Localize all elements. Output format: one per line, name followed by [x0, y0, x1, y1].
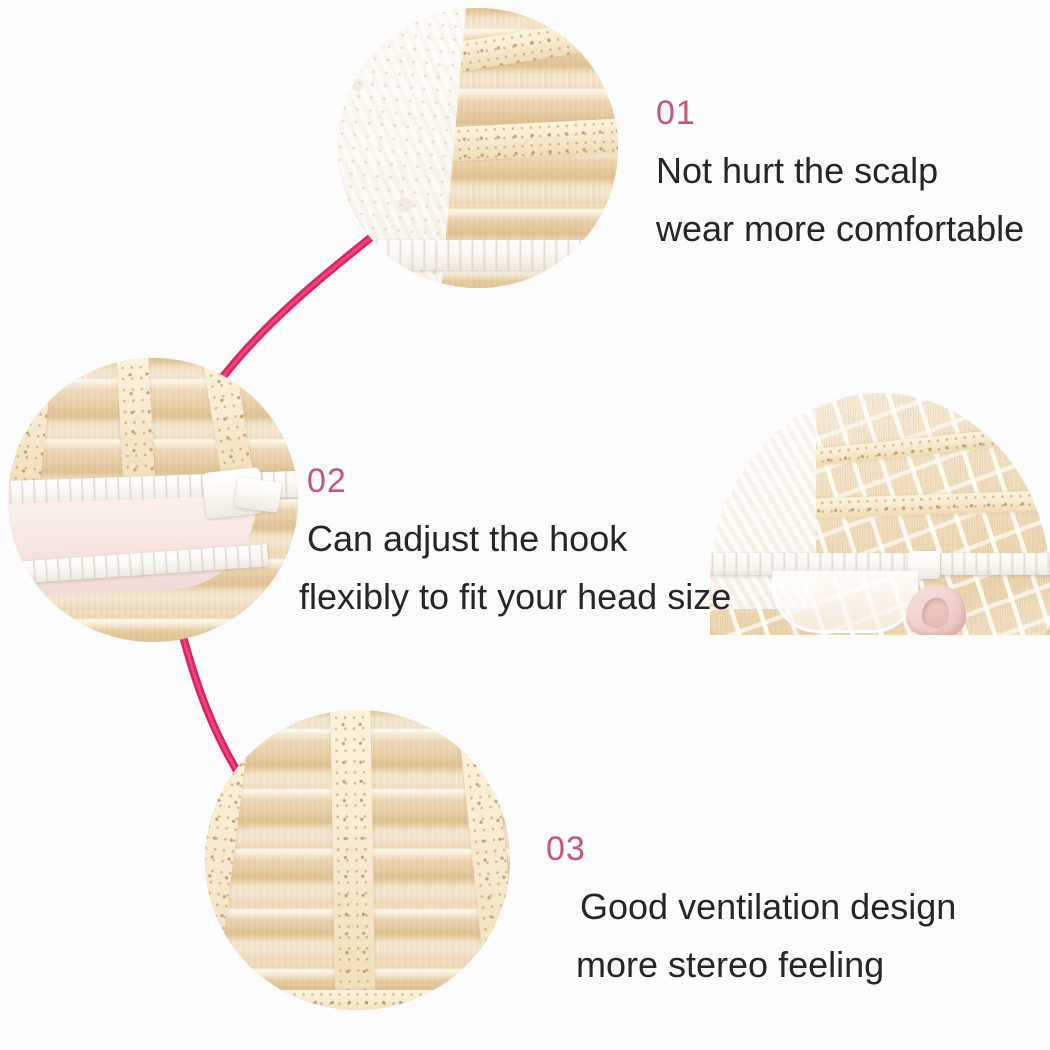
feature-number-01: 01	[656, 96, 1024, 130]
feature-number-02: 02	[307, 464, 731, 498]
cap-bottom-scallop-edge	[235, 990, 485, 1010]
feature-line1-02: Can adjust the hook	[307, 510, 731, 568]
feature-block-01: 01 Not hurt the scalp wear more comforta…	[656, 96, 1024, 259]
wig-cap-lace-top-closeup	[338, 8, 618, 288]
feature-line2-01: wear more comfortable	[656, 200, 1024, 258]
wig-cap-adjustable-hook-closeup	[8, 358, 298, 642]
ventilation-lace-strip-center	[330, 710, 376, 1010]
wig-cap-ventilation-closeup	[205, 710, 510, 1010]
infographic-canvas: 01 Not hurt the scalp wear more comforta…	[0, 0, 1050, 1050]
full-wig-cap-on-mannequin-head	[710, 393, 1050, 635]
feature-number-03: 03	[546, 832, 956, 866]
mannequin-ear-inner	[922, 598, 950, 628]
hook-tab	[234, 477, 282, 513]
feature-block-02: 02 Can adjust the hook flexibly to fit y…	[307, 464, 731, 627]
feature-line1-03: Good ventilation design	[580, 878, 956, 936]
cap-bottom-edge-band	[338, 240, 618, 270]
feature-line2-03: more stereo feeling	[576, 936, 956, 994]
hero-nape-mesh-panel	[772, 571, 918, 633]
feature-block-03: 03 Good ventilation design more stereo f…	[546, 832, 956, 995]
mannequin-ear	[906, 585, 966, 635]
feature-line1-01: Not hurt the scalp	[656, 142, 1024, 200]
feature-line2-02: flexibly to fit your head size	[299, 568, 731, 626]
